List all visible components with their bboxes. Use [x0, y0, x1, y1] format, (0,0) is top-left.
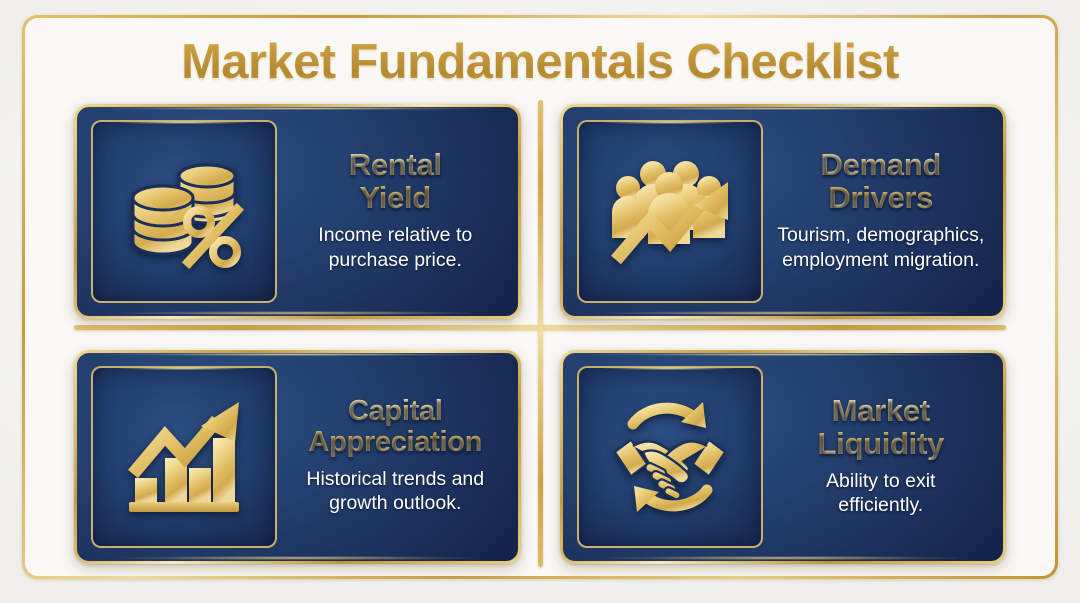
card-title-line: Rental	[349, 148, 442, 181]
card-title-line: Market	[818, 394, 944, 427]
card-desc-capital-appreciation: Historical trends and growth outlook.	[306, 467, 484, 516]
card-title-demand-drivers: Demand Drivers	[820, 148, 941, 214]
card-demand-drivers[interactable]: Demand Drivers Tourism, demographics, em…	[560, 104, 1007, 319]
icon-panel-rental-yield	[91, 120, 277, 303]
handshake-cycle-arrows-icon	[607, 394, 733, 520]
card-desc-line: Income relative to	[318, 223, 472, 248]
card-text-market-liquidity: Market Liquidity Ability to exit efficie…	[763, 353, 1004, 562]
card-text-demand-drivers: Demand Drivers Tourism, demographics, em…	[763, 107, 1004, 316]
icon-panel-capital-appreciation	[91, 366, 277, 549]
card-title-market-liquidity: Market Liquidity	[818, 394, 944, 460]
card-desc-line: efficiently.	[826, 493, 935, 518]
icon-panel-demand-drivers	[577, 120, 763, 303]
card-desc-line: Historical trends and	[306, 467, 484, 492]
card-text-rental-yield: Rental Yield Income relative to purchase…	[277, 107, 518, 316]
card-desc-demand-drivers: Tourism, demographics, employment migrat…	[777, 223, 984, 272]
card-desc-rental-yield: Income relative to purchase price.	[318, 223, 472, 272]
cards-grid: Rental Yield Income relative to purchase…	[74, 104, 1006, 564]
card-text-capital-appreciation: Capital Appreciation Historical trends a…	[277, 353, 518, 562]
card-title-capital-appreciation: Capital Appreciation	[308, 396, 482, 458]
card-title-line: Yield	[349, 181, 442, 214]
card-capital-appreciation[interactable]: Capital Appreciation Historical trends a…	[74, 350, 521, 565]
card-title-line: Capital	[308, 396, 482, 427]
card-title-line: Drivers	[820, 181, 941, 214]
card-title-rental-yield: Rental Yield	[349, 148, 442, 214]
card-title-line: Demand	[820, 148, 941, 181]
card-desc-line: purchase price.	[318, 248, 472, 273]
card-market-liquidity[interactable]: Market Liquidity Ability to exit efficie…	[560, 350, 1007, 565]
card-desc-line: Ability to exit	[826, 469, 935, 494]
page-title: Market Fundamentals Checklist	[0, 38, 1080, 87]
people-growth-arrow-icon	[606, 150, 734, 272]
icon-panel-market-liquidity	[577, 366, 763, 549]
card-title-line: Appreciation	[308, 427, 482, 458]
card-rental-yield[interactable]: Rental Yield Income relative to purchase…	[74, 104, 521, 319]
card-desc-line: growth outlook.	[306, 491, 484, 516]
card-title-line: Liquidity	[818, 427, 944, 460]
card-desc-line: employment migration.	[777, 248, 984, 273]
card-desc-market-liquidity: Ability to exit efficiently.	[826, 469, 935, 518]
coin-stack-percent-icon	[121, 148, 247, 274]
bar-chart-growth-arrow-icon	[121, 394, 247, 520]
card-desc-line: Tourism, demographics,	[777, 223, 984, 248]
